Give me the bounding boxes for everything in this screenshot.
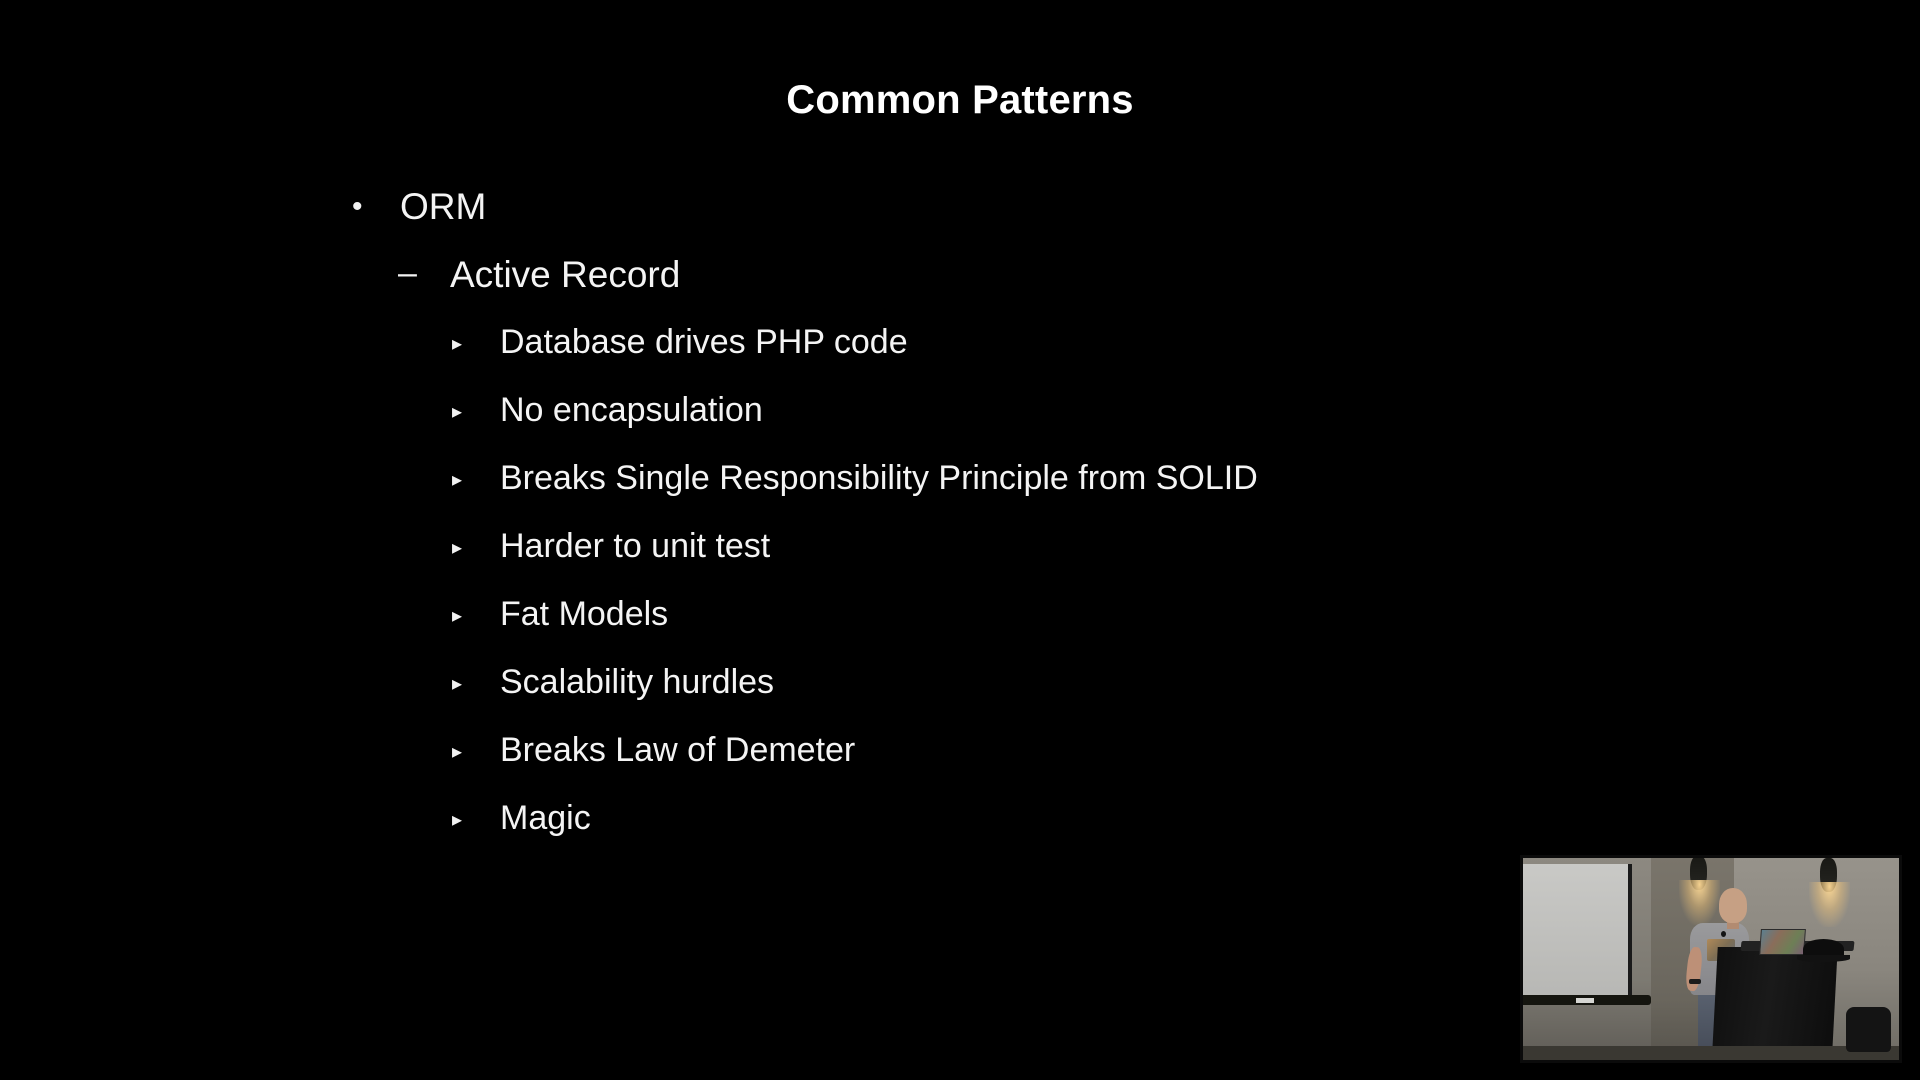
triangle-bullet-icon: ▸ xyxy=(452,393,500,431)
laptop-with-stickers xyxy=(1759,929,1806,955)
wristwatch-icon xyxy=(1689,979,1701,984)
bullet-item-fat-models: ▸ Fat Models xyxy=(0,597,1920,665)
bullet-item-scalability-hurdles: ▸ Scalability hurdles xyxy=(0,665,1920,733)
wall-sconce-right-glow xyxy=(1809,882,1850,926)
black-cap-brim xyxy=(1797,955,1850,962)
triangle-bullet-icon: ▸ xyxy=(452,665,500,703)
bullet-label: Magic xyxy=(500,801,591,835)
bullet-label: Fat Models xyxy=(500,597,668,631)
projection-screen xyxy=(1523,864,1632,999)
triangle-bullet-icon: ▸ xyxy=(452,529,500,567)
triangle-bullet-icon: ▸ xyxy=(452,597,500,635)
podium xyxy=(1712,947,1838,1052)
bullet-label: ORM xyxy=(400,188,486,225)
bullet-label: Active Record xyxy=(450,256,680,293)
bullet-item-active-record: – Active Record xyxy=(0,256,1920,325)
disc-bullet-icon: • xyxy=(352,188,400,226)
bullet-label: Breaks Single Responsibility Principle f… xyxy=(500,461,1258,495)
dash-bullet-icon: – xyxy=(398,256,450,292)
bullet-item-orm: • ORM xyxy=(0,188,1920,256)
triangle-bullet-icon: ▸ xyxy=(452,801,500,839)
projection-screen-label xyxy=(1576,998,1595,1003)
bullet-item-database-drives-php-code: ▸ Database drives PHP code xyxy=(0,325,1920,393)
bullet-item-harder-to-unit-test: ▸ Harder to unit test xyxy=(0,529,1920,597)
bullet-label: No encapsulation xyxy=(500,393,763,427)
backpack xyxy=(1846,1007,1891,1051)
lapel-mic-icon xyxy=(1721,931,1726,937)
bullet-item-breaks-single-responsibility-principle: ▸ Breaks Single Responsibility Principle… xyxy=(0,461,1920,529)
triangle-bullet-icon: ▸ xyxy=(452,325,500,363)
presentation-slide: Common Patterns • ORM – Active Record ▸ … xyxy=(0,0,1920,1080)
bullet-label: Scalability hurdles xyxy=(500,665,774,699)
slide-bullet-list: • ORM – Active Record ▸ Database drives … xyxy=(0,188,1920,869)
bullet-label: Breaks Law of Demeter xyxy=(500,733,855,767)
slide-title: Common Patterns xyxy=(0,78,1920,122)
room-floor xyxy=(1523,1046,1899,1060)
speaker-camera-feed xyxy=(1523,858,1899,1060)
presenter-head xyxy=(1719,888,1747,922)
bullet-item-breaks-law-of-demeter: ▸ Breaks Law of Demeter xyxy=(0,733,1920,801)
wall-sconce-left-glow xyxy=(1679,880,1720,924)
bullet-item-no-encapsulation: ▸ No encapsulation xyxy=(0,393,1920,461)
triangle-bullet-icon: ▸ xyxy=(452,733,500,771)
bullet-label: Harder to unit test xyxy=(500,529,770,563)
triangle-bullet-icon: ▸ xyxy=(452,461,500,499)
speaker-video-inset[interactable] xyxy=(1520,855,1902,1063)
bullet-label: Database drives PHP code xyxy=(500,325,908,359)
